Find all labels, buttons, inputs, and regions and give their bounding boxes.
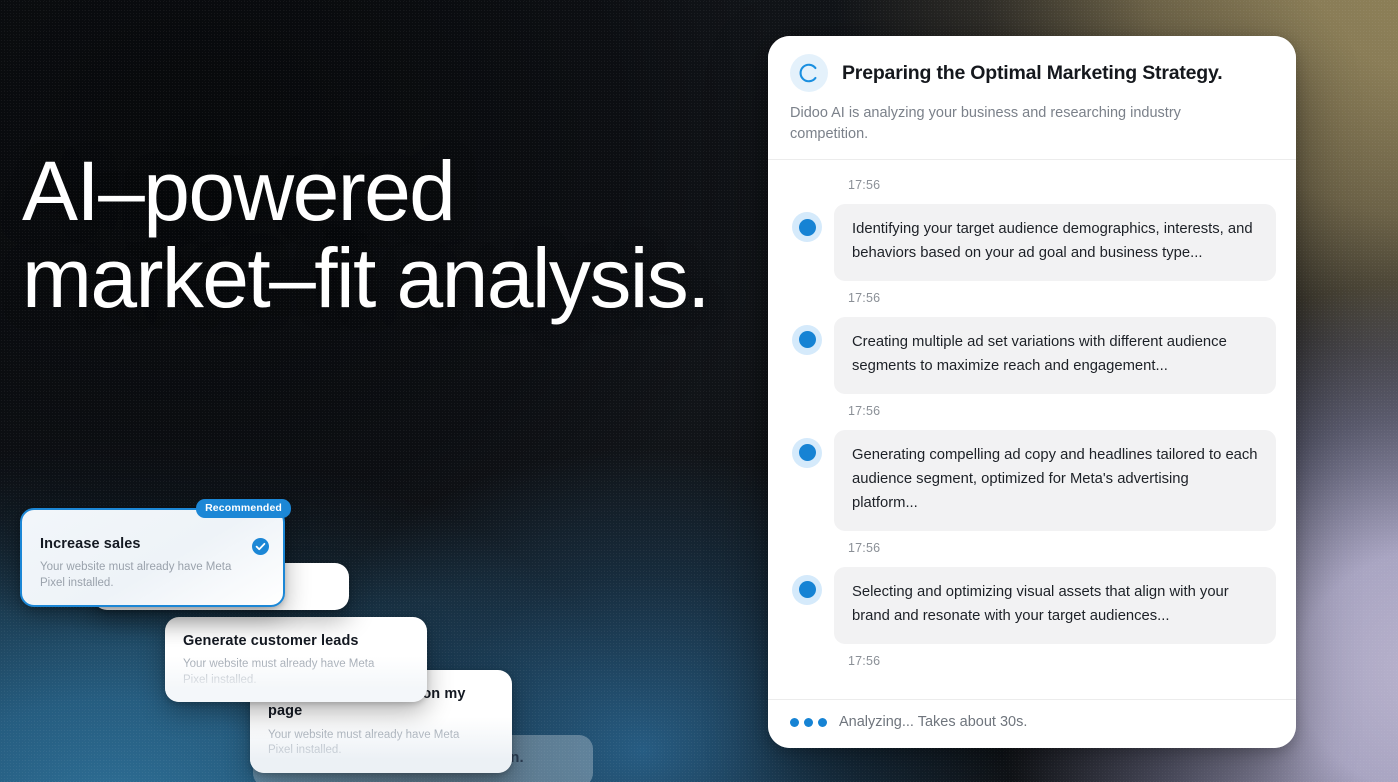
chat-message-text: Creating multiple ad set variations with… bbox=[834, 317, 1276, 394]
chat-message-text: Selecting and optimizing visual assets t… bbox=[834, 567, 1276, 644]
chat-message: Selecting and optimizing visual assets t… bbox=[788, 567, 1276, 644]
goal-card-title: Generate customer leads bbox=[183, 633, 409, 650]
status-dot-icon bbox=[792, 325, 822, 355]
chat-header: Preparing the Optimal Marketing Strategy… bbox=[768, 36, 1296, 160]
chat-message: Creating multiple ad set variations with… bbox=[788, 317, 1276, 394]
loading-dots-icon bbox=[790, 718, 827, 727]
status-dot-icon bbox=[792, 212, 822, 242]
chat-subtitle: Didoo AI is analyzing your business and … bbox=[790, 103, 1245, 145]
promo-screen: AI–powered market–fit analysis. Get more… bbox=[0, 0, 1398, 782]
goal-card-subtitle: Your website must already have Meta Pixe… bbox=[268, 728, 468, 759]
spinner-c-icon bbox=[790, 54, 828, 92]
goal-card-subtitle: Your website must already have Meta Pixe… bbox=[40, 560, 240, 591]
chat-message: Identifying your target audience demogra… bbox=[788, 204, 1276, 281]
chat-footer: Analyzing... Takes about 30s. bbox=[768, 699, 1296, 748]
chat-message-text: Generating compelling ad copy and headli… bbox=[834, 430, 1276, 531]
goal-card-increase-sales[interactable]: Recommended Increase sales Your website … bbox=[20, 508, 285, 607]
timestamp: 17:56 bbox=[848, 541, 1276, 555]
chat-title: Preparing the Optimal Marketing Strategy… bbox=[842, 62, 1222, 85]
timestamp: 17:56 bbox=[848, 291, 1276, 305]
chat-panel: Preparing the Optimal Marketing Strategy… bbox=[768, 36, 1296, 748]
goal-card-title: Increase sales bbox=[40, 536, 265, 553]
goal-card-leads[interactable]: Generate customer leads Your website mus… bbox=[165, 617, 427, 702]
timestamp: 17:56 bbox=[848, 178, 1276, 192]
recommended-badge: Recommended bbox=[196, 499, 291, 518]
chat-message-list[interactable]: 17:56 Identifying your target audience d… bbox=[768, 160, 1296, 699]
chat-message: Generating compelling ad copy and headli… bbox=[788, 430, 1276, 531]
goal-card-subtitle: Your website must already have Meta Pixe… bbox=[183, 657, 383, 688]
status-text: Analyzing... Takes about 30s. bbox=[839, 714, 1027, 730]
timestamp: 17:56 bbox=[848, 404, 1276, 418]
chat-message-text: Identifying your target audience demogra… bbox=[834, 204, 1276, 281]
status-dot-icon bbox=[792, 438, 822, 468]
check-circle-icon bbox=[252, 538, 269, 555]
hero-headline: AI–powered market–fit analysis. bbox=[22, 148, 812, 321]
timestamp: 17:56 bbox=[848, 654, 1276, 668]
status-dot-icon bbox=[792, 575, 822, 605]
